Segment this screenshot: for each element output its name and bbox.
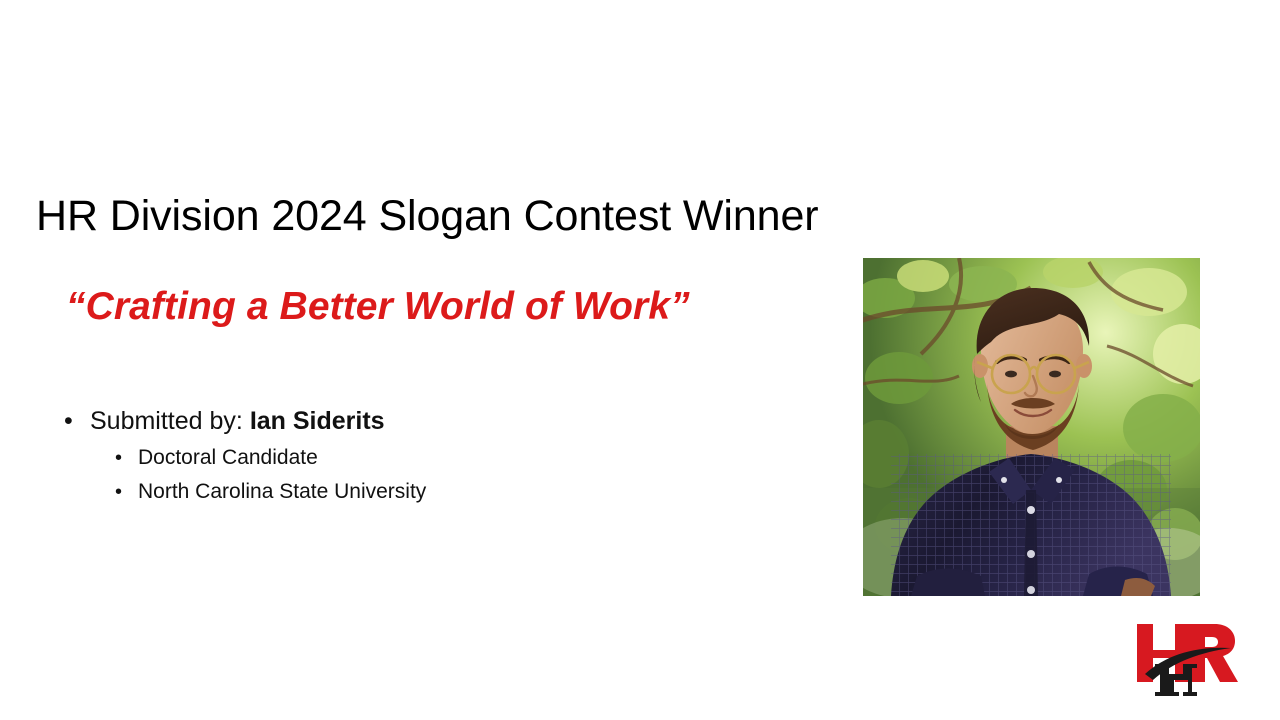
submitter-name: Ian Siderits xyxy=(250,407,385,435)
role-text: Doctoral Candidate xyxy=(138,446,318,469)
submitted-by-label: Submitted by: xyxy=(90,407,250,435)
slide-body-content: • Submitted by: Ian Siderits • Doctoral … xyxy=(60,404,760,511)
presentation-slide: HR Division 2024 Slogan Contest Winner “… xyxy=(0,0,1280,720)
bullet-marker-icon: • xyxy=(64,404,73,438)
bullet-marker-icon: • xyxy=(115,477,122,507)
affiliation-text: North Carolina State University xyxy=(138,480,426,503)
bullet-marker-icon: • xyxy=(115,443,122,473)
slide-title: HR Division 2024 Slogan Contest Winner xyxy=(36,191,1026,241)
hr-division-logo xyxy=(1131,618,1241,700)
list-item-role: • Doctoral Candidate xyxy=(60,443,760,473)
winning-slogan-text: “Crafting a Better World of Work” xyxy=(66,283,690,331)
list-item-affiliation: • North Carolina State University xyxy=(60,477,760,507)
list-item-submitted-by: • Submitted by: Ian Siderits xyxy=(60,404,760,438)
submitter-portrait-photo xyxy=(863,258,1200,596)
